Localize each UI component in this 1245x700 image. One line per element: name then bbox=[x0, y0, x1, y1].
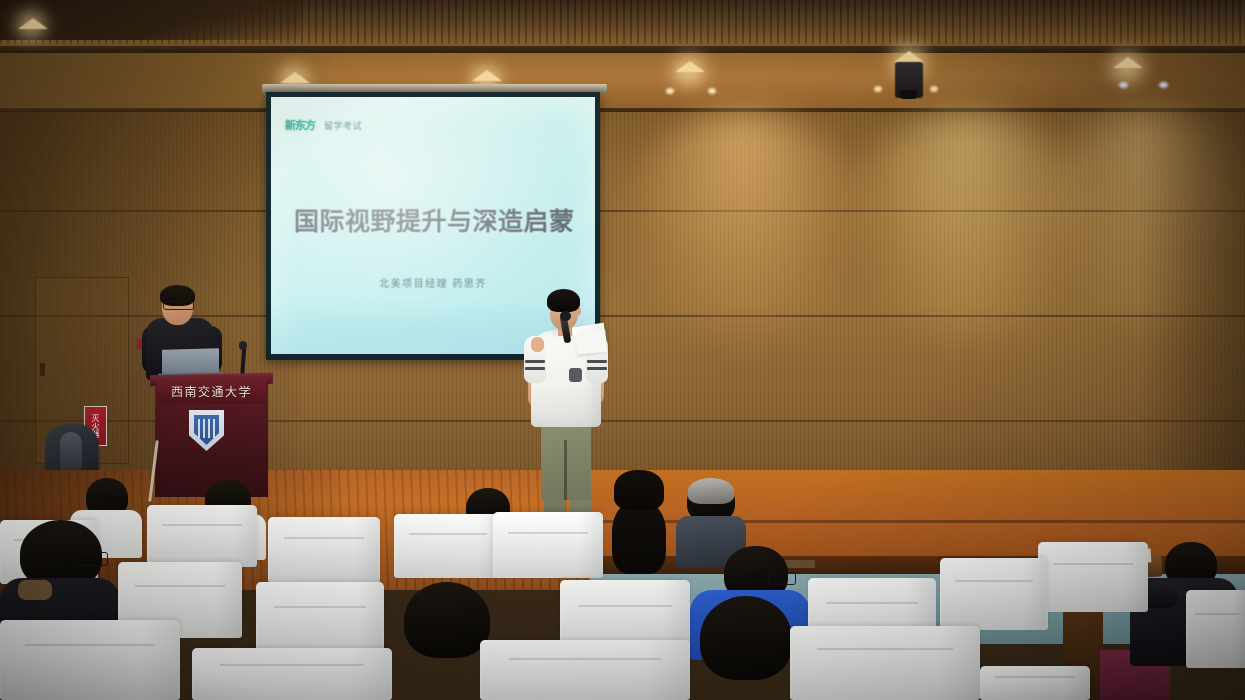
ceiling-spot-light bbox=[874, 86, 882, 92]
chair bbox=[394, 514, 502, 578]
chair bbox=[493, 512, 603, 578]
sleeve-stripe bbox=[525, 360, 545, 363]
podium-microphone-head bbox=[239, 341, 247, 350]
audience-head bbox=[404, 582, 490, 658]
pendant-lamp-icon bbox=[472, 70, 502, 81]
presenter-notes-paper bbox=[577, 330, 606, 354]
university-crest-mark bbox=[198, 419, 215, 438]
chair bbox=[940, 558, 1048, 630]
presenter-trouser-seam bbox=[564, 440, 567, 500]
pendant-lamp-icon bbox=[18, 18, 48, 29]
ceiling-spot-light bbox=[708, 88, 716, 94]
chair bbox=[1038, 542, 1148, 612]
audience-glasses bbox=[768, 572, 796, 585]
pendant-lamp-icon bbox=[1113, 57, 1143, 68]
soffit-shadow-right bbox=[900, 53, 1245, 113]
wall-light-pool bbox=[618, 112, 868, 342]
sleeve-stripe bbox=[525, 367, 545, 370]
door-handle[interactable] bbox=[40, 363, 45, 376]
presenter-shirt-graphic bbox=[569, 368, 582, 382]
operator-glasses-bridge bbox=[176, 303, 181, 304]
ceiling-beam bbox=[0, 46, 1245, 53]
sleeve-stripe bbox=[587, 360, 607, 363]
chair bbox=[268, 517, 380, 583]
pendant-lamp-icon bbox=[675, 61, 705, 72]
chair bbox=[980, 666, 1090, 700]
chair bbox=[790, 626, 980, 700]
chair bbox=[0, 620, 180, 700]
presenter-hair bbox=[547, 289, 580, 312]
chair bbox=[480, 640, 690, 700]
pendant-lamp-icon bbox=[280, 72, 310, 83]
chair bbox=[192, 648, 392, 700]
audience-glasses bbox=[78, 552, 108, 566]
audience-hair-gray bbox=[688, 478, 734, 504]
ceiling-spot-light bbox=[930, 86, 938, 92]
podium-nameplate-text: 西南交通大学 bbox=[171, 383, 252, 400]
pendant-lamp-icon bbox=[894, 51, 924, 62]
audience-head bbox=[700, 596, 792, 680]
podium-nameplate: 西南交通大学 bbox=[157, 379, 266, 404]
audience-head-long-hair bbox=[612, 500, 666, 574]
ceiling-spot-light bbox=[666, 88, 674, 94]
lanyard bbox=[18, 580, 52, 600]
stage-riser-seam bbox=[575, 520, 1245, 523]
ceiling-spot-light bbox=[1159, 82, 1168, 88]
presenter-hand-left bbox=[531, 337, 544, 352]
chair bbox=[147, 505, 257, 567]
sleeve-stripe bbox=[587, 367, 607, 370]
ceiling-spot-light bbox=[1119, 82, 1128, 88]
projector-lens bbox=[900, 90, 917, 99]
audience-head-long-hair bbox=[614, 470, 664, 510]
wall-shadow-right bbox=[1140, 112, 1245, 512]
lecture-hall-photo: 新东方 留学考试 国际视野提升与深造启蒙 北美项目经理 药思齐 灭火器 西南交通… bbox=[0, 0, 1245, 700]
handheld-microphone-head bbox=[560, 311, 571, 321]
chair bbox=[1186, 590, 1245, 668]
